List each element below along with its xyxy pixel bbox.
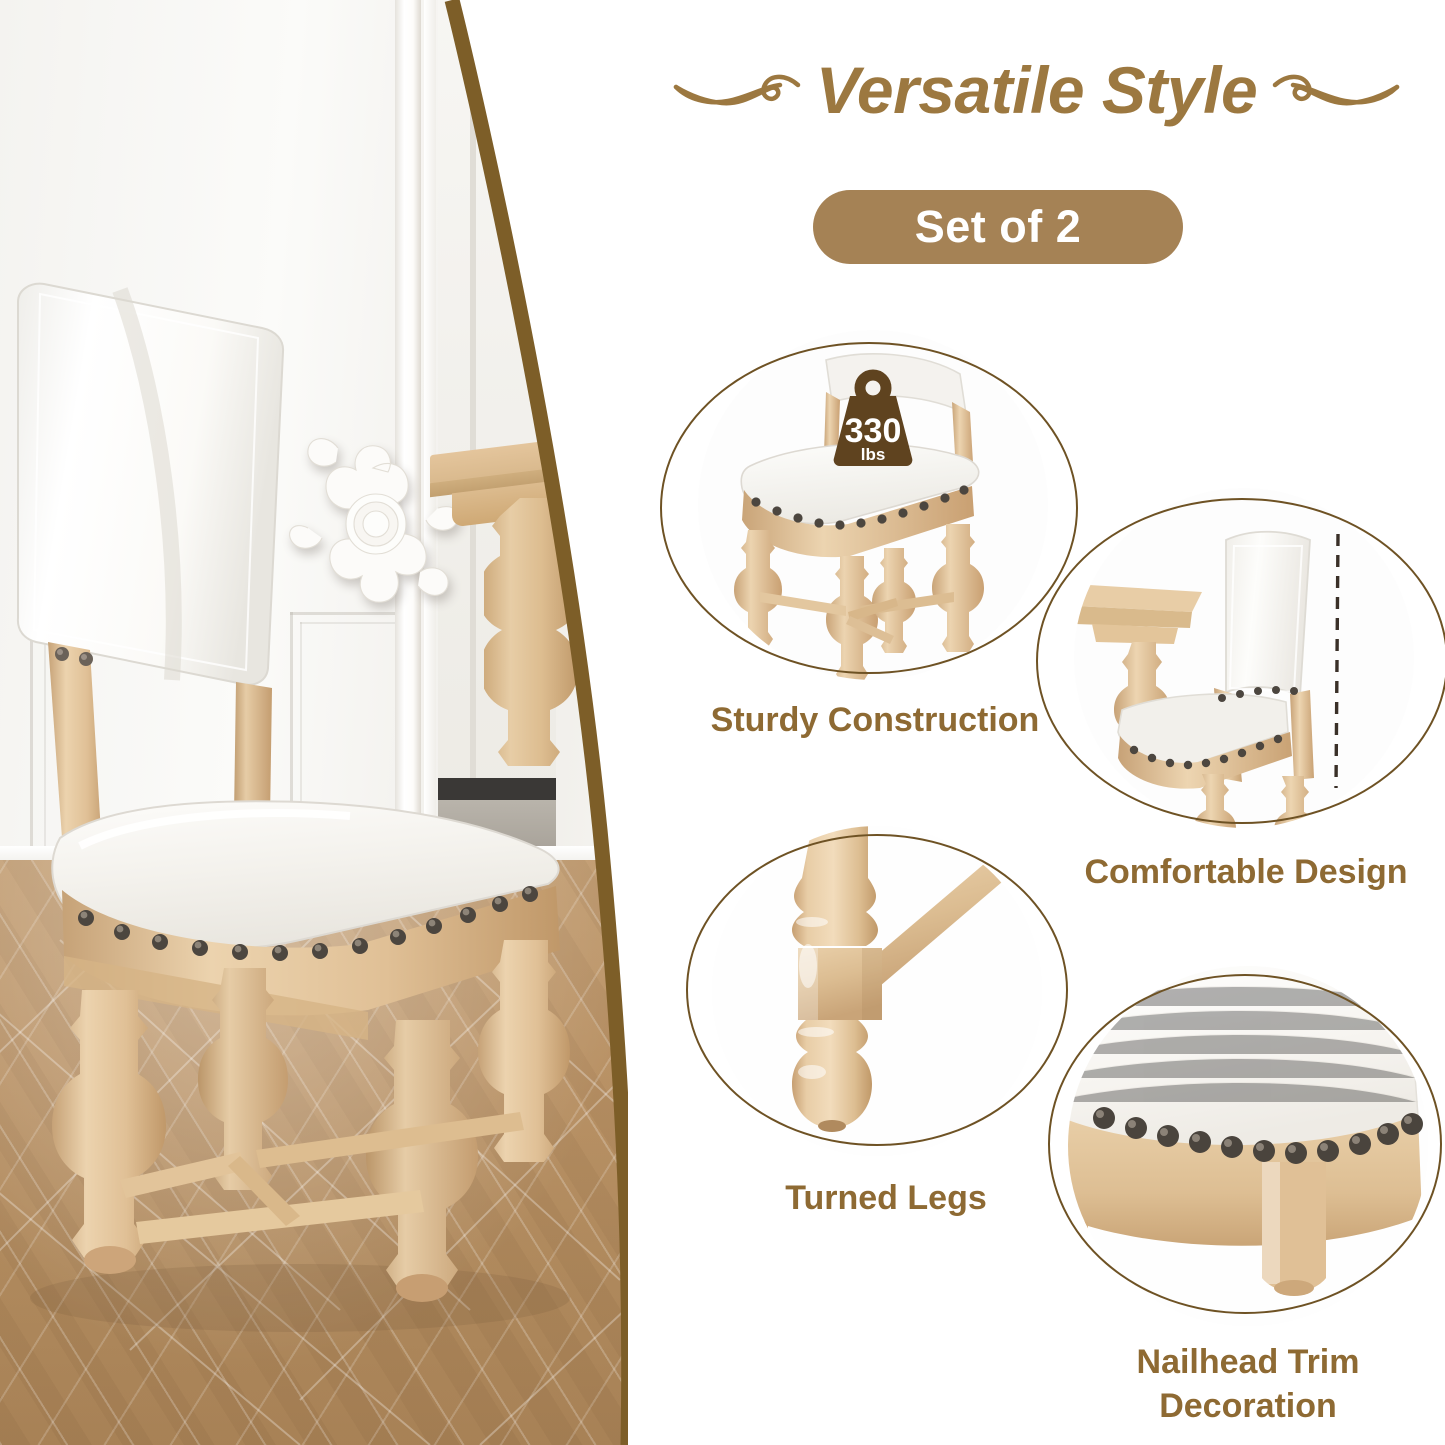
feature-caption-turned-legs: Turned Legs bbox=[686, 1178, 1086, 1219]
feature-panel: Versatile Style Set of 2 bbox=[628, 0, 1445, 1445]
dining-chair bbox=[0, 250, 640, 1400]
feature-circle-ring bbox=[1048, 974, 1442, 1314]
product-feature-graphic: Versatile Style Set of 2 bbox=[0, 0, 1445, 1445]
feature-turned-legs: Turned Legs bbox=[686, 820, 1086, 1260]
feature-sturdy-construction: 330 lbs Sturdy Construction bbox=[660, 330, 1090, 770]
page-title: Versatile Style bbox=[816, 52, 1257, 128]
feature-circle-ring bbox=[660, 342, 1078, 674]
title-row: Versatile Style bbox=[628, 44, 1445, 136]
feature-caption-nailhead-trim-line1: Nailhead Trim bbox=[1038, 1342, 1445, 1383]
set-of-2-badge: Set of 2 bbox=[813, 190, 1183, 264]
feature-caption-sturdy-construction: Sturdy Construction bbox=[660, 700, 1090, 741]
feature-circle-ring bbox=[1036, 498, 1445, 824]
feature-caption-nailhead-trim-line2: Decoration bbox=[1038, 1386, 1445, 1427]
lifestyle-photo bbox=[0, 0, 700, 1445]
feature-comfortable-design: Comfortable Design bbox=[1036, 480, 1445, 920]
feature-nailhead-trim-decoration: Nailhead Trim Decoration bbox=[1038, 960, 1445, 1430]
feature-caption-comfortable-design: Comfortable Design bbox=[1036, 852, 1445, 893]
flourish-swirl-right-icon bbox=[1271, 63, 1401, 117]
flourish-swirl-left-icon bbox=[672, 63, 802, 117]
room-scene bbox=[0, 0, 700, 1445]
set-of-2-label: Set of 2 bbox=[915, 201, 1082, 253]
feature-circle-ring bbox=[686, 834, 1068, 1146]
